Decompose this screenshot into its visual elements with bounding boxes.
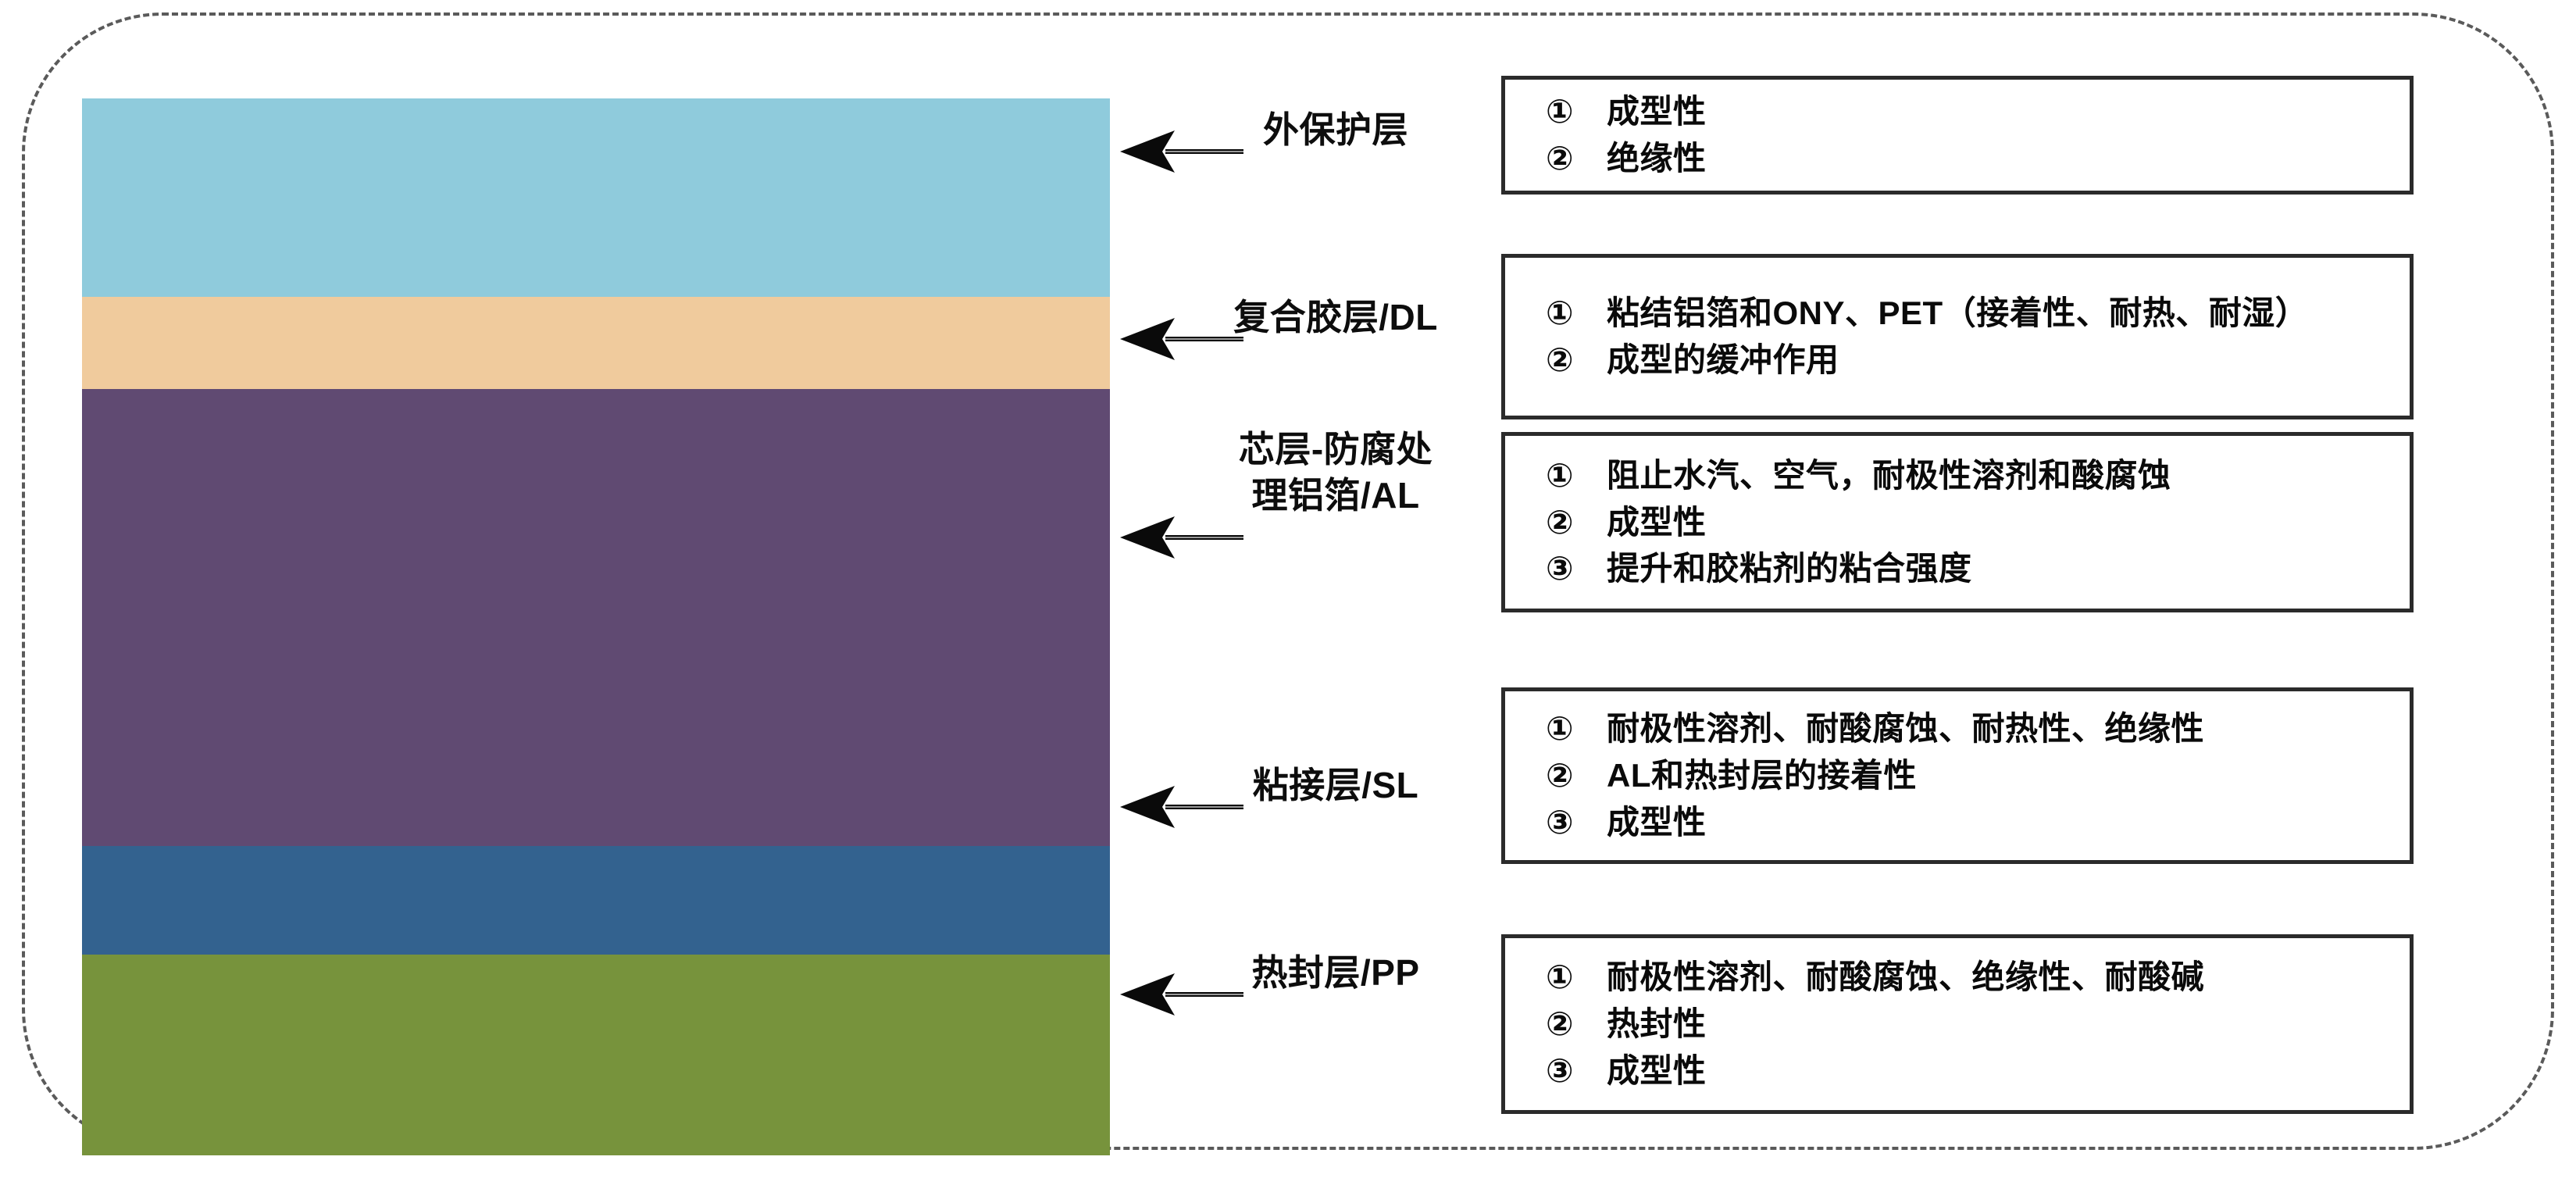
property-row: ③成型性 [1505, 1048, 2410, 1094]
layer-label-bonding-sl: 粘接层/SL [1172, 762, 1500, 809]
property-box-bonding-sl: ①耐极性溶剂、耐酸腐蚀、耐热性、绝缘性②AL和热封层的接着性③成型性 [1501, 687, 2414, 864]
property-row: ①阻止水汽、空气，耐极性溶剂和酸腐蚀 [1505, 452, 2410, 499]
layer-label-heat-seal-pp: 热封层/PP [1172, 950, 1500, 996]
property-text: 成型的缓冲作用 [1607, 338, 2410, 382]
property-box-heat-seal-pp: ①耐极性溶剂、耐酸腐蚀、绝缘性、耐酸碱②热封性③成型性 [1501, 934, 2414, 1114]
property-box-outer-protective: ①成型性②绝缘性 [1501, 76, 2414, 195]
property-number: ① [1505, 454, 1607, 498]
layer-band-heat-seal-pp [82, 955, 1110, 1155]
property-number: ③ [1505, 1049, 1607, 1093]
property-number: ① [1505, 90, 1607, 134]
property-box-adhesive-dl: ①粘结铝箔和ONY、PET（接着性、耐热、耐湿）②成型的缓冲作用 [1501, 254, 2414, 419]
property-text: 提升和胶粘剂的粘合强度 [1607, 547, 2410, 591]
layer-stack [82, 98, 1110, 1057]
property-row: ②绝缘性 [1505, 135, 2410, 182]
property-number: ① [1505, 291, 1607, 335]
layer-band-core-al [82, 389, 1110, 846]
layer-band-bonding-sl [82, 846, 1110, 955]
property-row: ②成型的缓冲作用 [1505, 337, 2410, 384]
property-number: ② [1505, 137, 1607, 180]
property-text: 耐极性溶剂、耐酸腐蚀、绝缘性、耐酸碱 [1607, 955, 2410, 999]
property-text: 耐极性溶剂、耐酸腐蚀、耐热性、绝缘性 [1607, 707, 2410, 751]
property-text: 成型性 [1607, 90, 2410, 134]
property-row: ②AL和热封层的接着性 [1505, 752, 2410, 799]
layer-label-core-al: 芯层-防腐处 理铝箔/AL [1172, 427, 1500, 519]
property-row: ①粘结铝箔和ONY、PET（接着性、耐热、耐湿） [1505, 290, 2410, 337]
property-text: 粘结铝箔和ONY、PET（接着性、耐热、耐湿） [1607, 291, 2410, 335]
property-number: ① [1505, 707, 1607, 751]
layer-band-outer-protective [82, 98, 1110, 297]
property-row: ①成型性 [1505, 88, 2410, 135]
property-text: 热封性 [1607, 1002, 2410, 1046]
property-text: 绝缘性 [1607, 137, 2410, 180]
property-row: ①耐极性溶剂、耐酸腐蚀、耐热性、绝缘性 [1505, 705, 2410, 752]
property-row: ②成型性 [1505, 499, 2410, 546]
property-text: AL和热封层的接着性 [1607, 754, 2410, 798]
property-text: 阻止水汽、空气，耐极性溶剂和酸腐蚀 [1607, 454, 2410, 498]
property-number: ② [1505, 754, 1607, 798]
diagram-canvas: 外保护层复合胶层/DL芯层-防腐处 理铝箔/AL粘接层/SL热封层/PP ①成型… [0, 0, 2576, 1178]
property-number: ② [1505, 501, 1607, 544]
property-number: ③ [1505, 801, 1607, 844]
layer-band-adhesive-dl [82, 297, 1110, 389]
property-number: ③ [1505, 547, 1607, 591]
property-row: ②热封性 [1505, 1001, 2410, 1048]
property-text: 成型性 [1607, 501, 2410, 544]
property-text: 成型性 [1607, 801, 2410, 844]
property-row: ③成型性 [1505, 799, 2410, 846]
layer-label-adhesive-dl: 复合胶层/DL [1172, 294, 1500, 341]
property-text: 成型性 [1607, 1049, 2410, 1093]
layer-label-outer-protective: 外保护层 [1172, 107, 1500, 153]
property-number: ② [1505, 1002, 1607, 1046]
property-row: ③提升和胶粘剂的粘合强度 [1505, 545, 2410, 592]
property-row: ①耐极性溶剂、耐酸腐蚀、绝缘性、耐酸碱 [1505, 954, 2410, 1001]
property-number: ① [1505, 955, 1607, 999]
property-box-core-al: ①阻止水汽、空气，耐极性溶剂和酸腐蚀②成型性③提升和胶粘剂的粘合强度 [1501, 432, 2414, 612]
left-arrow-icon [1119, 514, 1243, 561]
property-number: ② [1505, 338, 1607, 382]
